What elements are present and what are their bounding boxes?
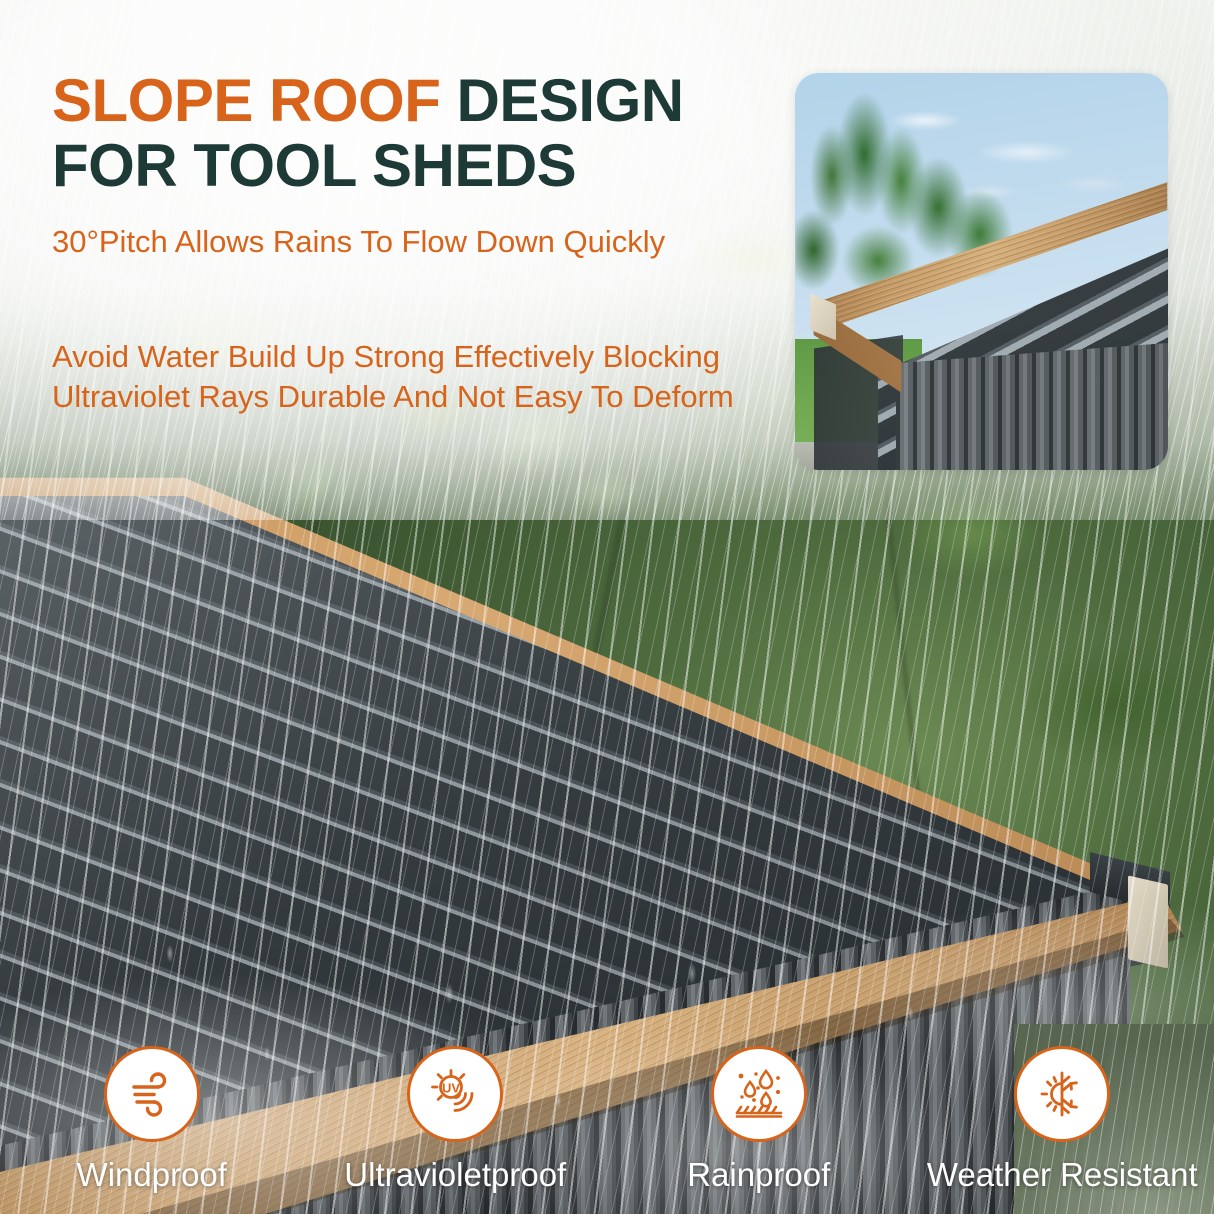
feature-label: Weather Resistant (927, 1156, 1198, 1194)
headline-line-2: FOR TOOL SHEDS (52, 133, 772, 198)
feature-label: Ultravioletproof (344, 1156, 566, 1194)
headline-rest: DESIGN (440, 67, 683, 134)
uv-sun-icon-badge: UV (407, 1046, 503, 1142)
feature-icon-row: Windproof UV (0, 994, 1214, 1194)
feature-rainproof: Rainproof (607, 1046, 911, 1194)
feature-weather-resistant: Weather Resistant (911, 1046, 1214, 1194)
water-droplets-icon-badge (711, 1046, 807, 1142)
headline-highlight: SLOPE ROOF (52, 67, 440, 134)
wind-icon-badge (104, 1046, 200, 1142)
fascia-corner-cap (1128, 875, 1168, 968)
subheadline-primary: 30°Pitch Allows Rains To Flow Down Quick… (52, 222, 732, 262)
subheadline-secondary: Avoid Water Build Up Strong Effectively … (52, 337, 742, 418)
feature-label: Windproof (77, 1156, 227, 1194)
svg-text:UV: UV (442, 1081, 460, 1096)
page-title: SLOPE ROOF DESIGN FOR TOOL SHEDS (52, 68, 772, 199)
sun-snowflake-icon-badge (1014, 1046, 1110, 1142)
feature-windproof: Windproof (0, 1046, 304, 1194)
water-droplets-icon (730, 1065, 788, 1123)
inset-roof-detail-photo (795, 73, 1168, 470)
inset-wall-corrugation (896, 343, 1168, 470)
feature-ultravioletproof: UV Ultravioletproof (304, 1046, 608, 1194)
product-marketing-banner: SLOPE ROOF DESIGN FOR TOOL SHEDS 30°Pitc… (0, 0, 1214, 1214)
wind-icon (124, 1066, 180, 1122)
headline-line-1: SLOPE ROOF DESIGN (52, 68, 772, 133)
sun-snowflake-icon (1034, 1066, 1090, 1122)
feature-label: Rainproof (687, 1156, 830, 1194)
uv-sun-icon: UV (426, 1065, 484, 1123)
